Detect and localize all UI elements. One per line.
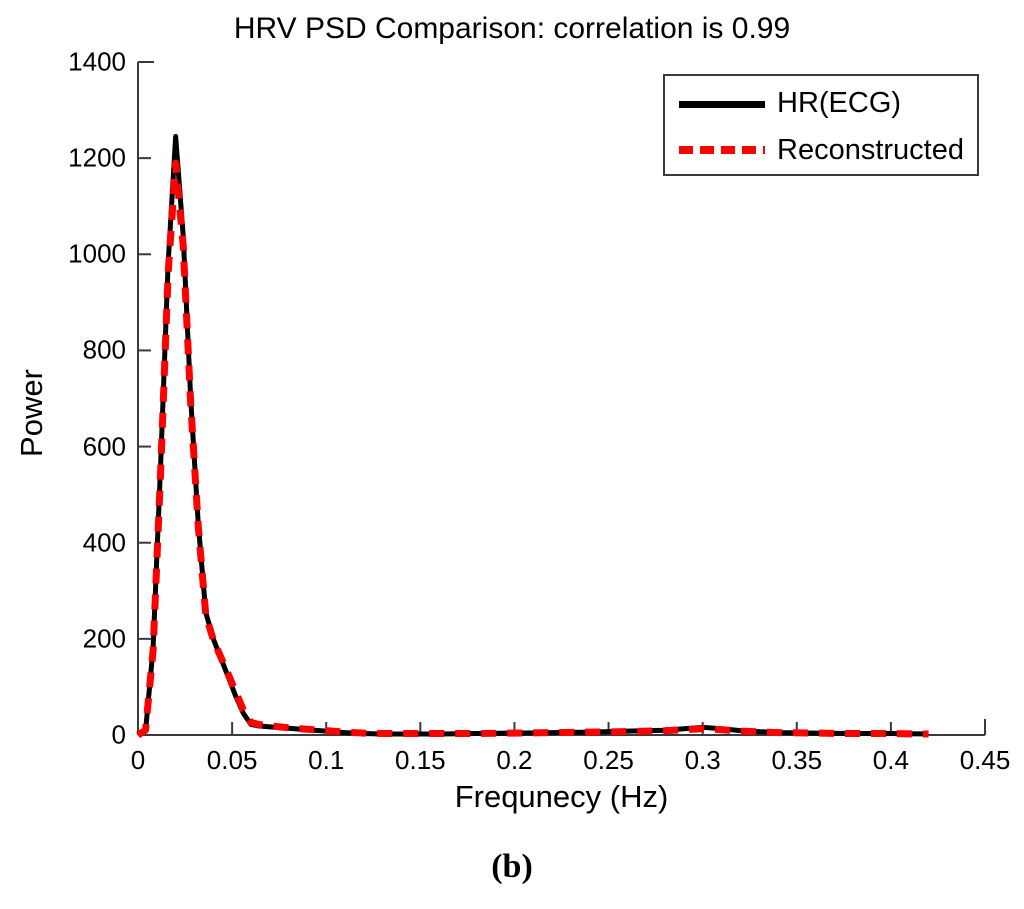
x-tick-label: 0.3 (685, 745, 721, 776)
x-tick-label: 0 (131, 745, 145, 776)
x-tick-label: 0.35 (771, 745, 822, 776)
y-tick-label: 0 (2, 720, 126, 751)
y-tick-label: 1400 (2, 47, 126, 78)
y-tick-label: 200 (2, 623, 126, 654)
legend-line-dashed-icon (679, 146, 765, 154)
series-line-1 (138, 137, 929, 735)
x-tick-label: 0.2 (496, 745, 532, 776)
x-tick-label: 0.45 (960, 745, 1011, 776)
y-tick-label: 1000 (2, 239, 126, 270)
x-tick-label: 0.05 (207, 745, 258, 776)
legend-item-reconstructed: Reconstructed (665, 128, 977, 172)
legend-label-reconstructed: Reconstructed (777, 136, 964, 165)
x-tick-label: 0.4 (873, 745, 909, 776)
figure-caption: (b) (0, 848, 1024, 886)
x-tick-label: 0.1 (308, 745, 344, 776)
x-tick-label: 0.25 (583, 745, 634, 776)
legend-label-hr-ecg: HR(ECG) (777, 89, 901, 118)
x-tick-label: 0.15 (395, 745, 446, 776)
y-tick-label: 1200 (2, 143, 126, 174)
series-line-2 (138, 163, 929, 735)
legend: HR(ECG) Reconstructed (663, 74, 979, 176)
legend-line-solid-icon (679, 101, 765, 108)
x-axis-label: Frequnecy (Hz) (138, 779, 985, 815)
chart-title: HRV PSD Comparison: correlation is 0.99 (0, 12, 1024, 46)
series-lines (138, 137, 929, 735)
y-tick-label: 400 (2, 527, 126, 558)
legend-item-hr-ecg: HR(ECG) (665, 81, 977, 125)
y-axis-label: Power (14, 303, 50, 523)
figure-panel-b: HRV PSD Comparison: correlation is 0.99 … (0, 0, 1024, 909)
